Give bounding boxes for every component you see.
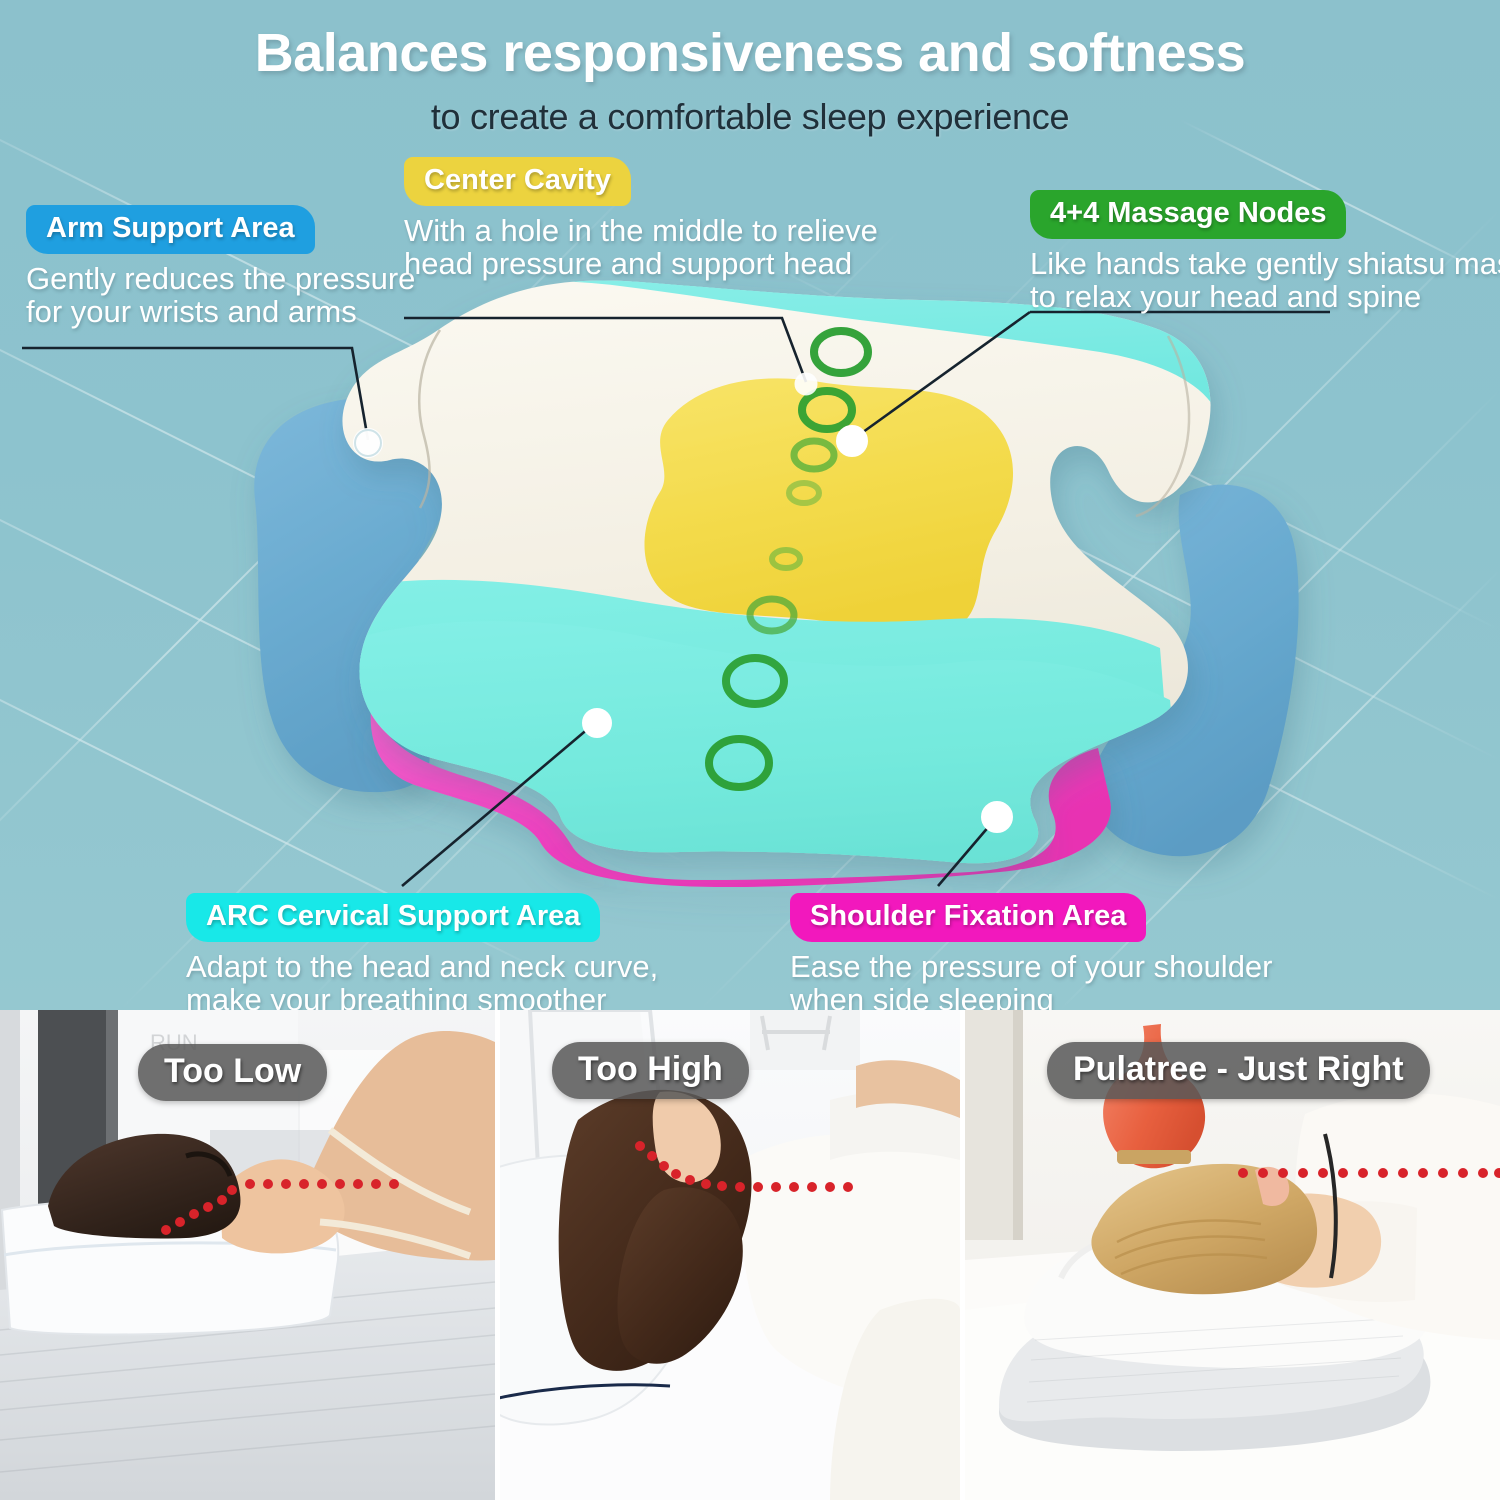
callout-marker-nodes	[838, 427, 866, 455]
comparison-panel-too-low: RUN	[0, 1010, 495, 1500]
callout-desc-shoulder-fixation: Ease the pressure of your shoulder when …	[790, 950, 1273, 1010]
callout-desc-line: make your breathing smoother	[186, 983, 658, 1010]
callout-desc-line: to relax your head and spine	[1030, 280, 1500, 313]
comparison-strip: RUN	[0, 1010, 1500, 1500]
callout-center-cavity: Center Cavity With a hole in the middle …	[404, 157, 878, 281]
callout-chip-massage-nodes: 4+4 Massage Nodes	[1030, 190, 1346, 239]
comparison-panel-too-high: Too High	[500, 1010, 960, 1500]
center-cavity-region	[645, 378, 1014, 634]
comparison-panel-just-right: Pulatree - Just Right	[965, 1010, 1500, 1500]
infographic-panel: Balances responsiveness and softness to …	[0, 0, 1500, 1010]
callout-desc-line: Gently reduces the pressure	[26, 262, 415, 295]
callout-desc-line: Like hands take gently shiatsu massa	[1030, 247, 1500, 280]
callout-chip-arm-support: Arm Support Area	[26, 205, 315, 254]
callout-marker-arc	[584, 710, 610, 736]
callout-arm-support: Arm Support Area Gently reduces the pres…	[26, 205, 415, 329]
callout-chip-shoulder-fixation: Shoulder Fixation Area	[790, 893, 1146, 942]
callout-arc-cervical: ARC Cervical Support Area Adapt to the h…	[186, 893, 658, 1010]
callout-desc-arc-cervical: Adapt to the head and neck curve, make y…	[186, 950, 658, 1010]
pillow-illustration	[0, 0, 1500, 1010]
callout-desc-line: when side sleeping	[790, 983, 1273, 1010]
callout-marker-center	[796, 374, 816, 394]
callout-desc-center-cavity: With a hole in the middle to relieve hea…	[404, 214, 878, 281]
callout-shoulder-fixation: Shoulder Fixation Area Ease the pressure…	[790, 893, 1273, 1010]
badge-just-right: Pulatree - Just Right	[1047, 1042, 1430, 1099]
callout-desc-massage-nodes: Like hands take gently shiatsu massa to …	[1030, 247, 1500, 314]
callout-desc-line: head pressure and support head	[404, 247, 878, 280]
callout-marker-shoulder	[983, 803, 1011, 831]
badge-too-high: Too High	[552, 1042, 749, 1099]
callout-desc-arm-support: Gently reduces the pressure for your wri…	[26, 262, 415, 329]
callout-chip-arc-cervical: ARC Cervical Support Area	[186, 893, 600, 942]
callout-chip-center-cavity: Center Cavity	[404, 157, 631, 206]
callout-desc-line: for your wrists and arms	[26, 295, 415, 328]
callout-desc-line: Ease the pressure of your shoulder	[790, 950, 1273, 983]
callout-desc-line: Adapt to the head and neck curve,	[186, 950, 658, 983]
badge-too-low: Too Low	[138, 1044, 327, 1101]
callout-massage-nodes: 4+4 Massage Nodes Like hands take gently…	[1030, 190, 1500, 314]
callout-desc-line: With a hole in the middle to relieve	[404, 214, 878, 247]
